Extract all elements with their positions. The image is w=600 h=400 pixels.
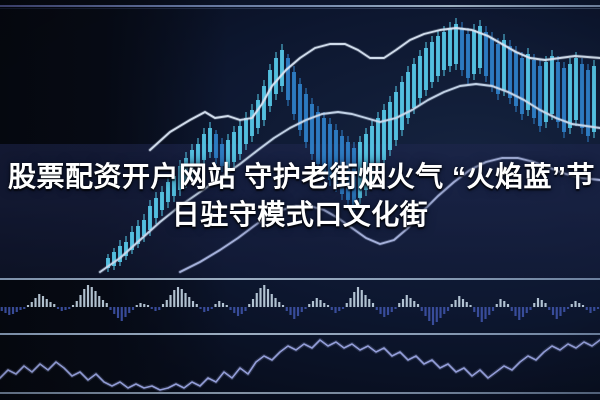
banner-image: 股票配资开户网站 守护老街烟火气 “火焰蓝”节 日驻守模式口文化街: [0, 0, 600, 400]
headline-line-1: 股票配资开户网站 守护老街烟火气 “火焰蓝”节: [8, 158, 592, 196]
headline-text: 股票配资开户网站 守护老街烟火气 “火焰蓝”节 日驻守模式口文化街: [0, 158, 600, 234]
panel-separator-bottom: [0, 392, 600, 394]
panel-separator-top: [0, 278, 600, 280]
panel-separator-middle: [0, 333, 600, 335]
headline-line-2: 日驻守模式口文化街: [8, 196, 592, 234]
